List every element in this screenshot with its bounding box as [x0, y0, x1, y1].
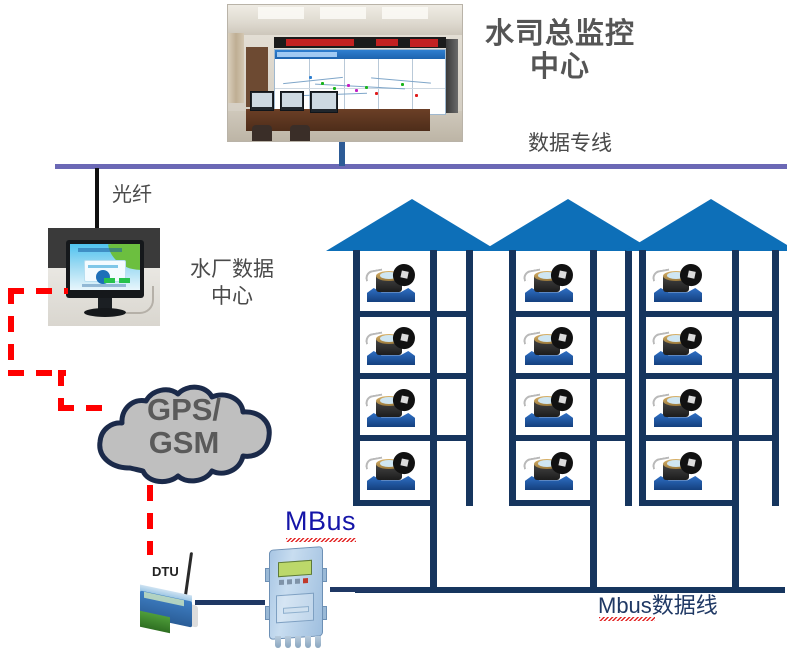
door: [446, 39, 458, 113]
building-roof: [326, 199, 498, 251]
building-floor-line: [353, 500, 437, 506]
spellcheck-underline: [599, 617, 655, 621]
building-floor-line: [639, 373, 739, 379]
gis-node: [321, 82, 324, 85]
meter-lid-marking: [687, 333, 695, 341]
operator-desk: [246, 109, 430, 131]
antenna-icon: [184, 552, 193, 596]
gis-node: [355, 89, 358, 92]
data-backbone-line: [55, 164, 787, 169]
meter-lid-marking: [400, 395, 408, 403]
water-meter: [363, 264, 419, 304]
control-room-photo: [228, 5, 462, 141]
building-floor-line: [353, 311, 437, 317]
key[interactable]: [287, 579, 292, 584]
building-floor-line: [639, 500, 739, 506]
meter-lid-marking: [558, 458, 566, 466]
building-floor-line: [353, 435, 437, 441]
building-floor-line: [509, 311, 597, 317]
plant-data-center-label: 水厂数据 中心: [172, 256, 292, 311]
water-meter: [521, 327, 577, 367]
key[interactable]: [279, 580, 284, 585]
water-meter: [363, 327, 419, 367]
lcd-display: [278, 560, 312, 577]
plant-monitor-photo: [48, 228, 160, 326]
label-slot: [283, 606, 309, 614]
water-meter: [650, 389, 706, 429]
screen-button: [104, 278, 115, 283]
building-floor-line: [732, 373, 779, 379]
power-led: [303, 578, 308, 583]
building-floor-line: [430, 435, 473, 441]
spellcheck-underline: [286, 538, 356, 542]
control-center-title: 水司总监控 中心: [470, 18, 650, 85]
building-floor-line: [430, 373, 473, 379]
water-meter: [521, 264, 577, 304]
building-downpipe: [590, 250, 597, 590]
building-floor-line: [509, 435, 597, 441]
ceiling-panel: [382, 7, 428, 19]
meter-lid-marking: [400, 333, 408, 341]
mbus-collector: [265, 548, 327, 648]
wireless-link-segment: [8, 288, 68, 294]
building-floor-line: [639, 435, 739, 441]
building-floor-line: [732, 311, 779, 317]
dedicated-line-label: 数据专线: [528, 132, 612, 156]
video-wall-header: [275, 50, 445, 59]
water-meter: [363, 389, 419, 429]
front-panel: [276, 593, 314, 624]
chair: [290, 125, 310, 141]
water-meter: [650, 264, 706, 304]
chair: [252, 125, 272, 141]
monitor-bezel: [66, 240, 144, 298]
fiber-label: 光纤: [112, 184, 152, 207]
wireless-link-segment: [8, 288, 14, 372]
dtu-label: DTU: [152, 565, 179, 580]
building-floor-line: [430, 311, 473, 317]
ceiling-panel: [258, 7, 304, 19]
screen-footer-text: [82, 284, 126, 287]
wall-seam: [275, 88, 445, 89]
cable-gland: [275, 636, 281, 648]
desk-monitor: [250, 91, 274, 111]
wireless-link-segment: [58, 370, 64, 410]
ceiling-panel: [320, 7, 366, 19]
building-floor-line: [509, 373, 597, 379]
gis-line: [283, 77, 343, 84]
mbus-to-bus-cable: [330, 587, 410, 592]
meter-lid-marking: [687, 270, 695, 278]
card-bar: [88, 265, 118, 268]
building-floor-line: [590, 311, 632, 317]
fiber-drop-line: [95, 168, 99, 228]
building-floor-line: [509, 500, 597, 506]
led-text: [410, 39, 438, 47]
key[interactable]: [295, 579, 300, 584]
control-center-drop-line: [339, 140, 345, 166]
meter-lid-marking: [400, 270, 408, 278]
building-roof: [625, 199, 787, 251]
gis-node: [365, 86, 368, 89]
building-floor-line: [590, 435, 632, 441]
screen-title-text: [78, 248, 122, 252]
dtu-to-mbus-cable: [195, 600, 265, 605]
meter-lid-marking: [558, 333, 566, 341]
gis-node: [333, 87, 336, 90]
led-text: [286, 39, 354, 46]
building-downpipe: [430, 250, 437, 590]
water-meter: [521, 452, 577, 492]
monitor-screen: [70, 244, 140, 290]
water-meter: [521, 389, 577, 429]
cable-gland: [285, 636, 291, 648]
meter-lid-marking: [687, 395, 695, 403]
curtain: [228, 33, 244, 103]
monitor-base: [84, 308, 126, 317]
building-downpipe: [732, 250, 739, 590]
meter-lid-marking: [558, 270, 566, 278]
gis-node: [347, 84, 350, 87]
screen-button: [119, 278, 130, 283]
led-text: [376, 39, 398, 46]
cloud-label: GPS/ GSM: [88, 394, 280, 460]
building-floor-line: [732, 435, 779, 441]
gis-node: [375, 92, 378, 95]
cloud-to-dtu-link: [147, 485, 153, 555]
cable-gland: [305, 636, 311, 648]
mbus-label: MBus: [285, 506, 356, 537]
gis-node: [415, 94, 418, 97]
gis-node: [401, 83, 404, 86]
water-meter: [363, 452, 419, 492]
meter-lid-marking: [400, 458, 408, 466]
building-floor-line: [590, 373, 632, 379]
header-text: [277, 52, 337, 57]
building-floor-line: [353, 373, 437, 379]
mbus-bus-line: [355, 587, 785, 593]
water-meter: [650, 327, 706, 367]
desk-monitor: [280, 91, 304, 111]
meter-lid-marking: [558, 395, 566, 403]
cable-gland: [315, 636, 321, 648]
cable-gland: [295, 636, 301, 648]
water-meter: [650, 452, 706, 492]
desk-monitor: [310, 91, 338, 113]
building-floor-line: [639, 311, 739, 317]
gis-node: [309, 76, 312, 79]
meter-lid-marking: [687, 458, 695, 466]
mbus-data-line-label: Mbus数据线: [598, 593, 718, 618]
